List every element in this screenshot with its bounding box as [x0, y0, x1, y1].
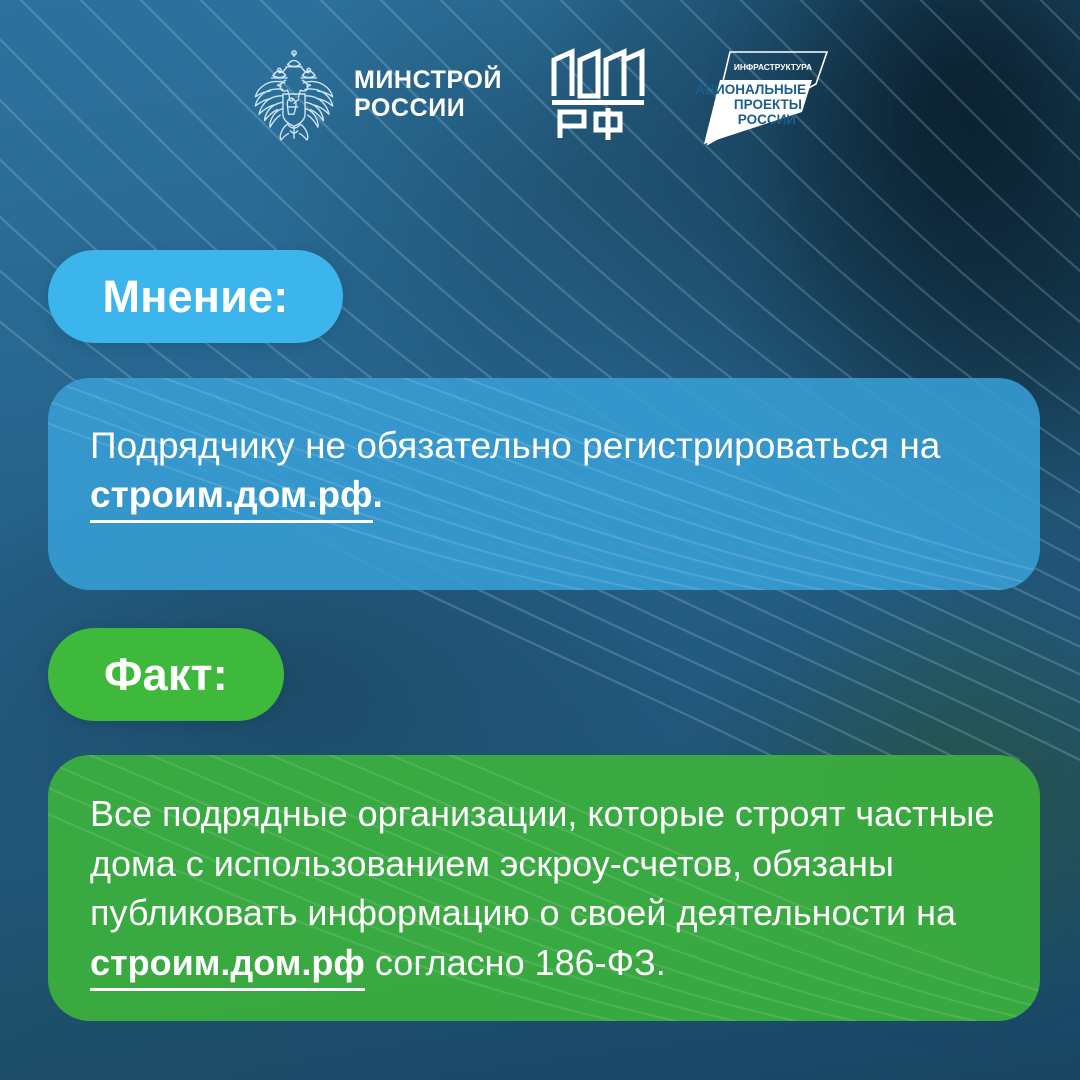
fact-pill: Факт:	[48, 628, 284, 721]
fact-domain-link[interactable]: строим.дом.рф	[90, 942, 365, 991]
dom-rf-logo-icon	[546, 46, 652, 142]
national-projects-logo-icon: ИНФРАСТРУКТУРА НАЦИОНАЛЬНЫЕ ПРОЕКТЫ РОСС…	[696, 40, 832, 148]
logo-minstroy: МИНСТРОЙ РОССИИ	[248, 46, 502, 142]
opinion-card: Подрядчику не обязательно регистрировать…	[48, 378, 1040, 590]
opinion-domain-link[interactable]: строим.дом.рф	[90, 474, 373, 523]
opinion-pill: Мнение:	[48, 250, 343, 343]
opinion-card-body: Подрядчику не обязательно регистрировать…	[48, 378, 1040, 520]
svg-text:ПРОЕКТЫ: ПРОЕКТЫ	[734, 97, 802, 112]
poster-canvas: МИНСТРОЙ РОССИИ	[0, 0, 1080, 1080]
svg-text:НАЦИОНАЛЬНЫЕ: НАЦИОНАЛЬНЫЕ	[696, 82, 806, 97]
fact-text-before: Все подрядные организации, которые строя…	[90, 793, 994, 933]
fact-text-after: согласно 186-ФЗ.	[365, 942, 666, 983]
logo-bar: МИНСТРОЙ РОССИИ	[0, 34, 1080, 154]
natproj-kicker: ИНФРАСТРУКТУРА	[734, 62, 812, 72]
fact-card: Все подрядные организации, которые строя…	[48, 755, 1040, 1021]
opinion-text-after: .	[373, 474, 383, 515]
minstroy-line-1: МИНСТРОЙ	[354, 66, 502, 94]
fact-pill-label: Факт:	[104, 649, 228, 701]
opinion-text-before: Подрядчику не обязательно регистрировать…	[90, 425, 940, 466]
fact-card-body: Все подрядные организации, которые строя…	[48, 755, 1040, 988]
russian-coat-of-arms-eagle-icon	[248, 46, 340, 142]
minstroy-wordmark: МИНСТРОЙ РОССИИ	[354, 66, 502, 122]
opinion-pill-label: Мнение:	[103, 271, 289, 323]
svg-text:РОССИИ: РОССИИ	[738, 112, 796, 127]
minstroy-line-2: РОССИИ	[354, 94, 502, 122]
